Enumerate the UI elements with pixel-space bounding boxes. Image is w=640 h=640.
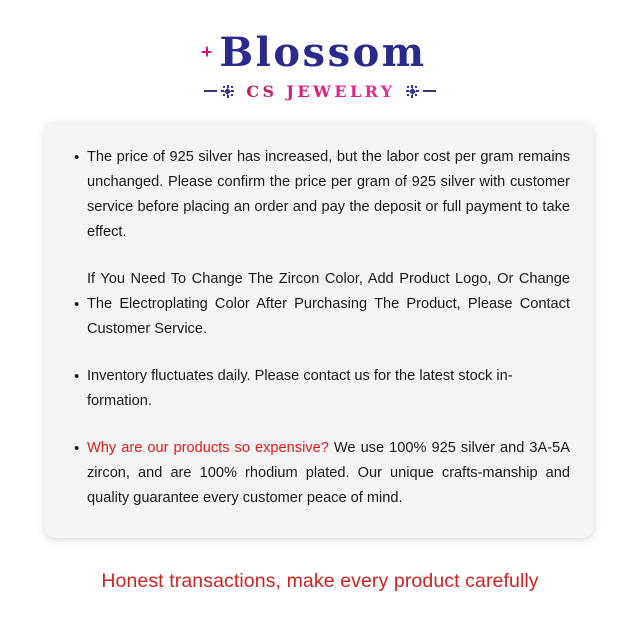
notice-highlight-question: Why are our products so expensive? [87, 440, 329, 456]
ornament-dash-right-icon [423, 90, 436, 92]
notice-text-silver-price: The price of 925 silver has increased, b… [87, 145, 570, 245]
notice-text-customization: If You Need To Change The Zircon Color, … [87, 267, 570, 342]
brand-wordmark: Blossom [213, 30, 426, 76]
footer-tagline: Honest transactions, make every product … [0, 570, 640, 593]
list-bullet: • [74, 364, 87, 389]
notice-item-pricing-explanation: • Why are our products so expensive? We … [74, 436, 570, 511]
brand-subtitle-row: CS JEWELRY [0, 81, 640, 101]
brand-wordmark-row: Blossom [0, 30, 640, 76]
notice-card: • The price of 925 silver has increased,… [44, 121, 594, 538]
notice-item-customization: • If You Need To Change The Zircon Color… [74, 267, 570, 342]
ornament-diamond-left-icon [221, 85, 234, 98]
brand-subtitle-text: CS JEWELRY [238, 82, 401, 101]
list-bullet: • [74, 436, 87, 461]
brand-wordmark-text: Blossom [219, 29, 426, 76]
ornament-dash-left-icon [204, 90, 217, 92]
notice-item-silver-price: • The price of 925 silver has increased,… [74, 145, 570, 245]
list-bullet: • [74, 297, 87, 312]
notice-item-inventory: • Inventory fluctuates daily. Please con… [74, 364, 570, 414]
notice-text-pricing-explanation: Why are our products so expensive? We us… [87, 436, 570, 511]
notice-text-inventory: Inventory fluctuates daily. Please conta… [87, 364, 570, 414]
ornament-diamond-right-icon [406, 85, 419, 98]
brand-header: Blossom CS JEWELRY [0, 0, 640, 101]
list-bullet: • [74, 145, 87, 170]
sparkle-diamond-icon [201, 46, 212, 57]
